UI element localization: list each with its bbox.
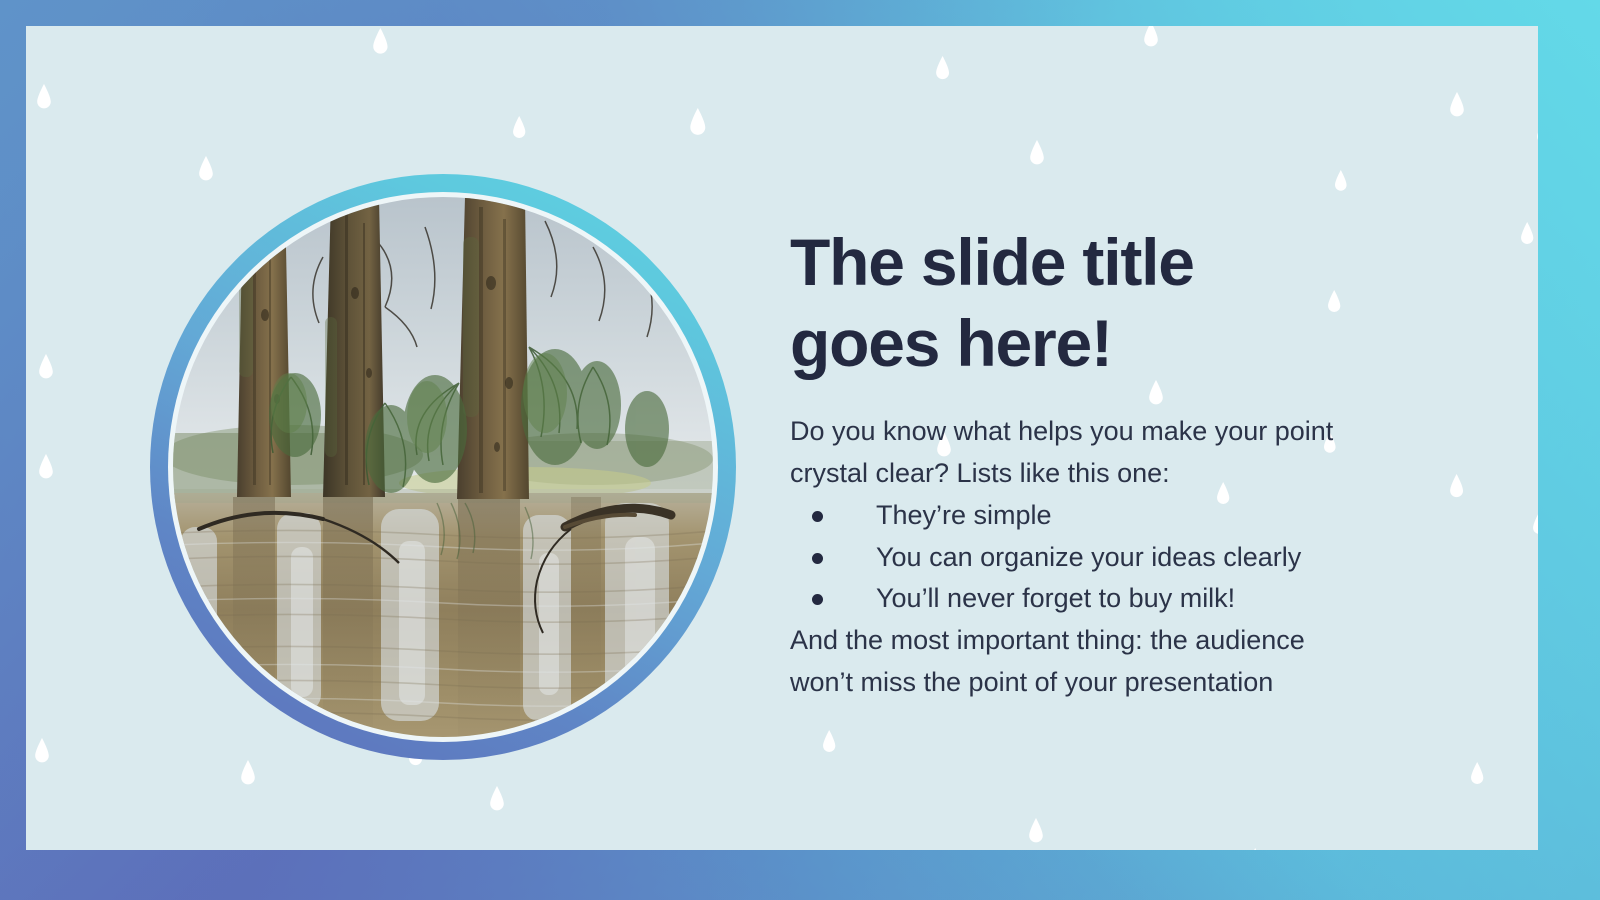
bullet-dot-icon xyxy=(812,594,823,605)
raindrop-icon xyxy=(935,56,950,81)
raindrop-icon xyxy=(240,760,256,786)
circular-photo-frame xyxy=(150,174,736,760)
raindrop-icon xyxy=(34,738,50,764)
raindrop-icon xyxy=(689,108,707,137)
closing-line-2: won’t miss the point of your presentatio… xyxy=(790,662,1490,704)
raindrop-icon xyxy=(38,354,54,380)
slide-canvas: The slide title goes here! Do you know w… xyxy=(0,0,1600,900)
list-item-label: You’ll never forget to buy milk! xyxy=(876,583,1235,613)
raindrop-icon xyxy=(1532,512,1538,535)
raindrop-icon xyxy=(1248,848,1262,850)
raindrop-icon xyxy=(198,156,214,182)
raindrop-icon xyxy=(1334,170,1348,192)
list-item: They’re simple xyxy=(790,495,1490,537)
raindrop-icon xyxy=(1143,26,1159,48)
list-item: You can organize your ideas clearly xyxy=(790,537,1490,579)
raindrop-icon xyxy=(822,730,836,753)
bullet-list: They’re simple You can organize your ide… xyxy=(790,495,1490,621)
raindrop-icon xyxy=(38,454,54,480)
photo-white-inner-ring xyxy=(168,192,718,742)
raindrop-icon xyxy=(1028,818,1044,844)
slide-inner-panel: The slide title goes here! Do you know w… xyxy=(26,26,1538,850)
list-item-label: You can organize your ideas clearly xyxy=(876,542,1301,572)
intro-line-1: Do you know what helps you make your poi… xyxy=(790,411,1490,453)
raindrop-icon xyxy=(36,84,52,110)
bullet-dot-icon xyxy=(812,553,823,564)
slide-text-column: The slide title goes here! Do you know w… xyxy=(790,222,1490,704)
slide-title: The slide title goes here! xyxy=(790,222,1490,383)
bullet-dot-icon xyxy=(812,511,823,522)
list-item: You’ll never forget to buy milk! xyxy=(790,578,1490,620)
list-item-label: They’re simple xyxy=(876,500,1052,530)
intro-line-2: crystal clear? Lists like this one: xyxy=(790,453,1490,495)
raindrop-icon xyxy=(512,116,526,139)
raindrop-icon xyxy=(489,786,505,812)
raindrop-icon xyxy=(372,28,389,55)
raindrop-icon xyxy=(1029,140,1045,166)
flooded-forest-photo xyxy=(173,197,713,737)
raindrop-icon xyxy=(1470,762,1484,785)
raindrop-icon xyxy=(1536,120,1538,145)
raindrop-icon xyxy=(1520,222,1534,245)
slide-body-block: Do you know what helps you make your poi… xyxy=(790,411,1490,704)
raindrop-icon xyxy=(1449,92,1465,118)
closing-line-1: And the most important thing: the audien… xyxy=(790,620,1490,662)
